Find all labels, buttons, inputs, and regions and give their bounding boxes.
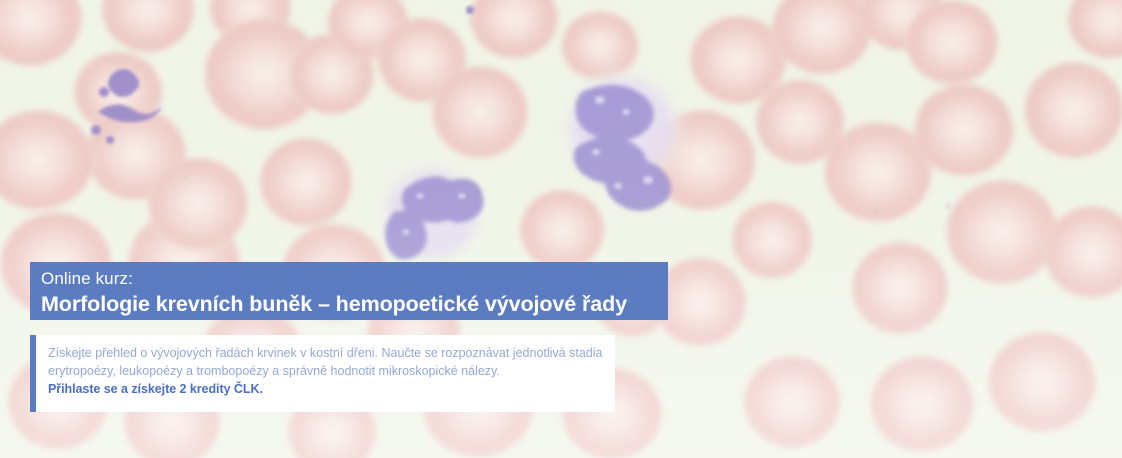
course-description-box: Získejte přehled o vývojových řadách krv… xyxy=(30,335,615,412)
course-promo-banner: Online kurz: Morfologie krevních buněk –… xyxy=(0,0,1122,458)
neutrophil-cell-2 xyxy=(376,160,488,268)
description-body: Získejte přehled o vývojových řadách krv… xyxy=(48,345,607,380)
description-text: Získejte přehled o vývojových řadách krv… xyxy=(36,335,615,412)
enroll-cta-text[interactable]: Přihlaste se a získejte 2 kredity ČLK. xyxy=(48,381,607,399)
course-kicker: Online kurz: xyxy=(41,267,668,290)
course-title: Morfologie krevních buněk – hemopoetické… xyxy=(41,290,668,319)
course-title-bar: Online kurz: Morfologie krevních buněk –… xyxy=(30,262,668,320)
